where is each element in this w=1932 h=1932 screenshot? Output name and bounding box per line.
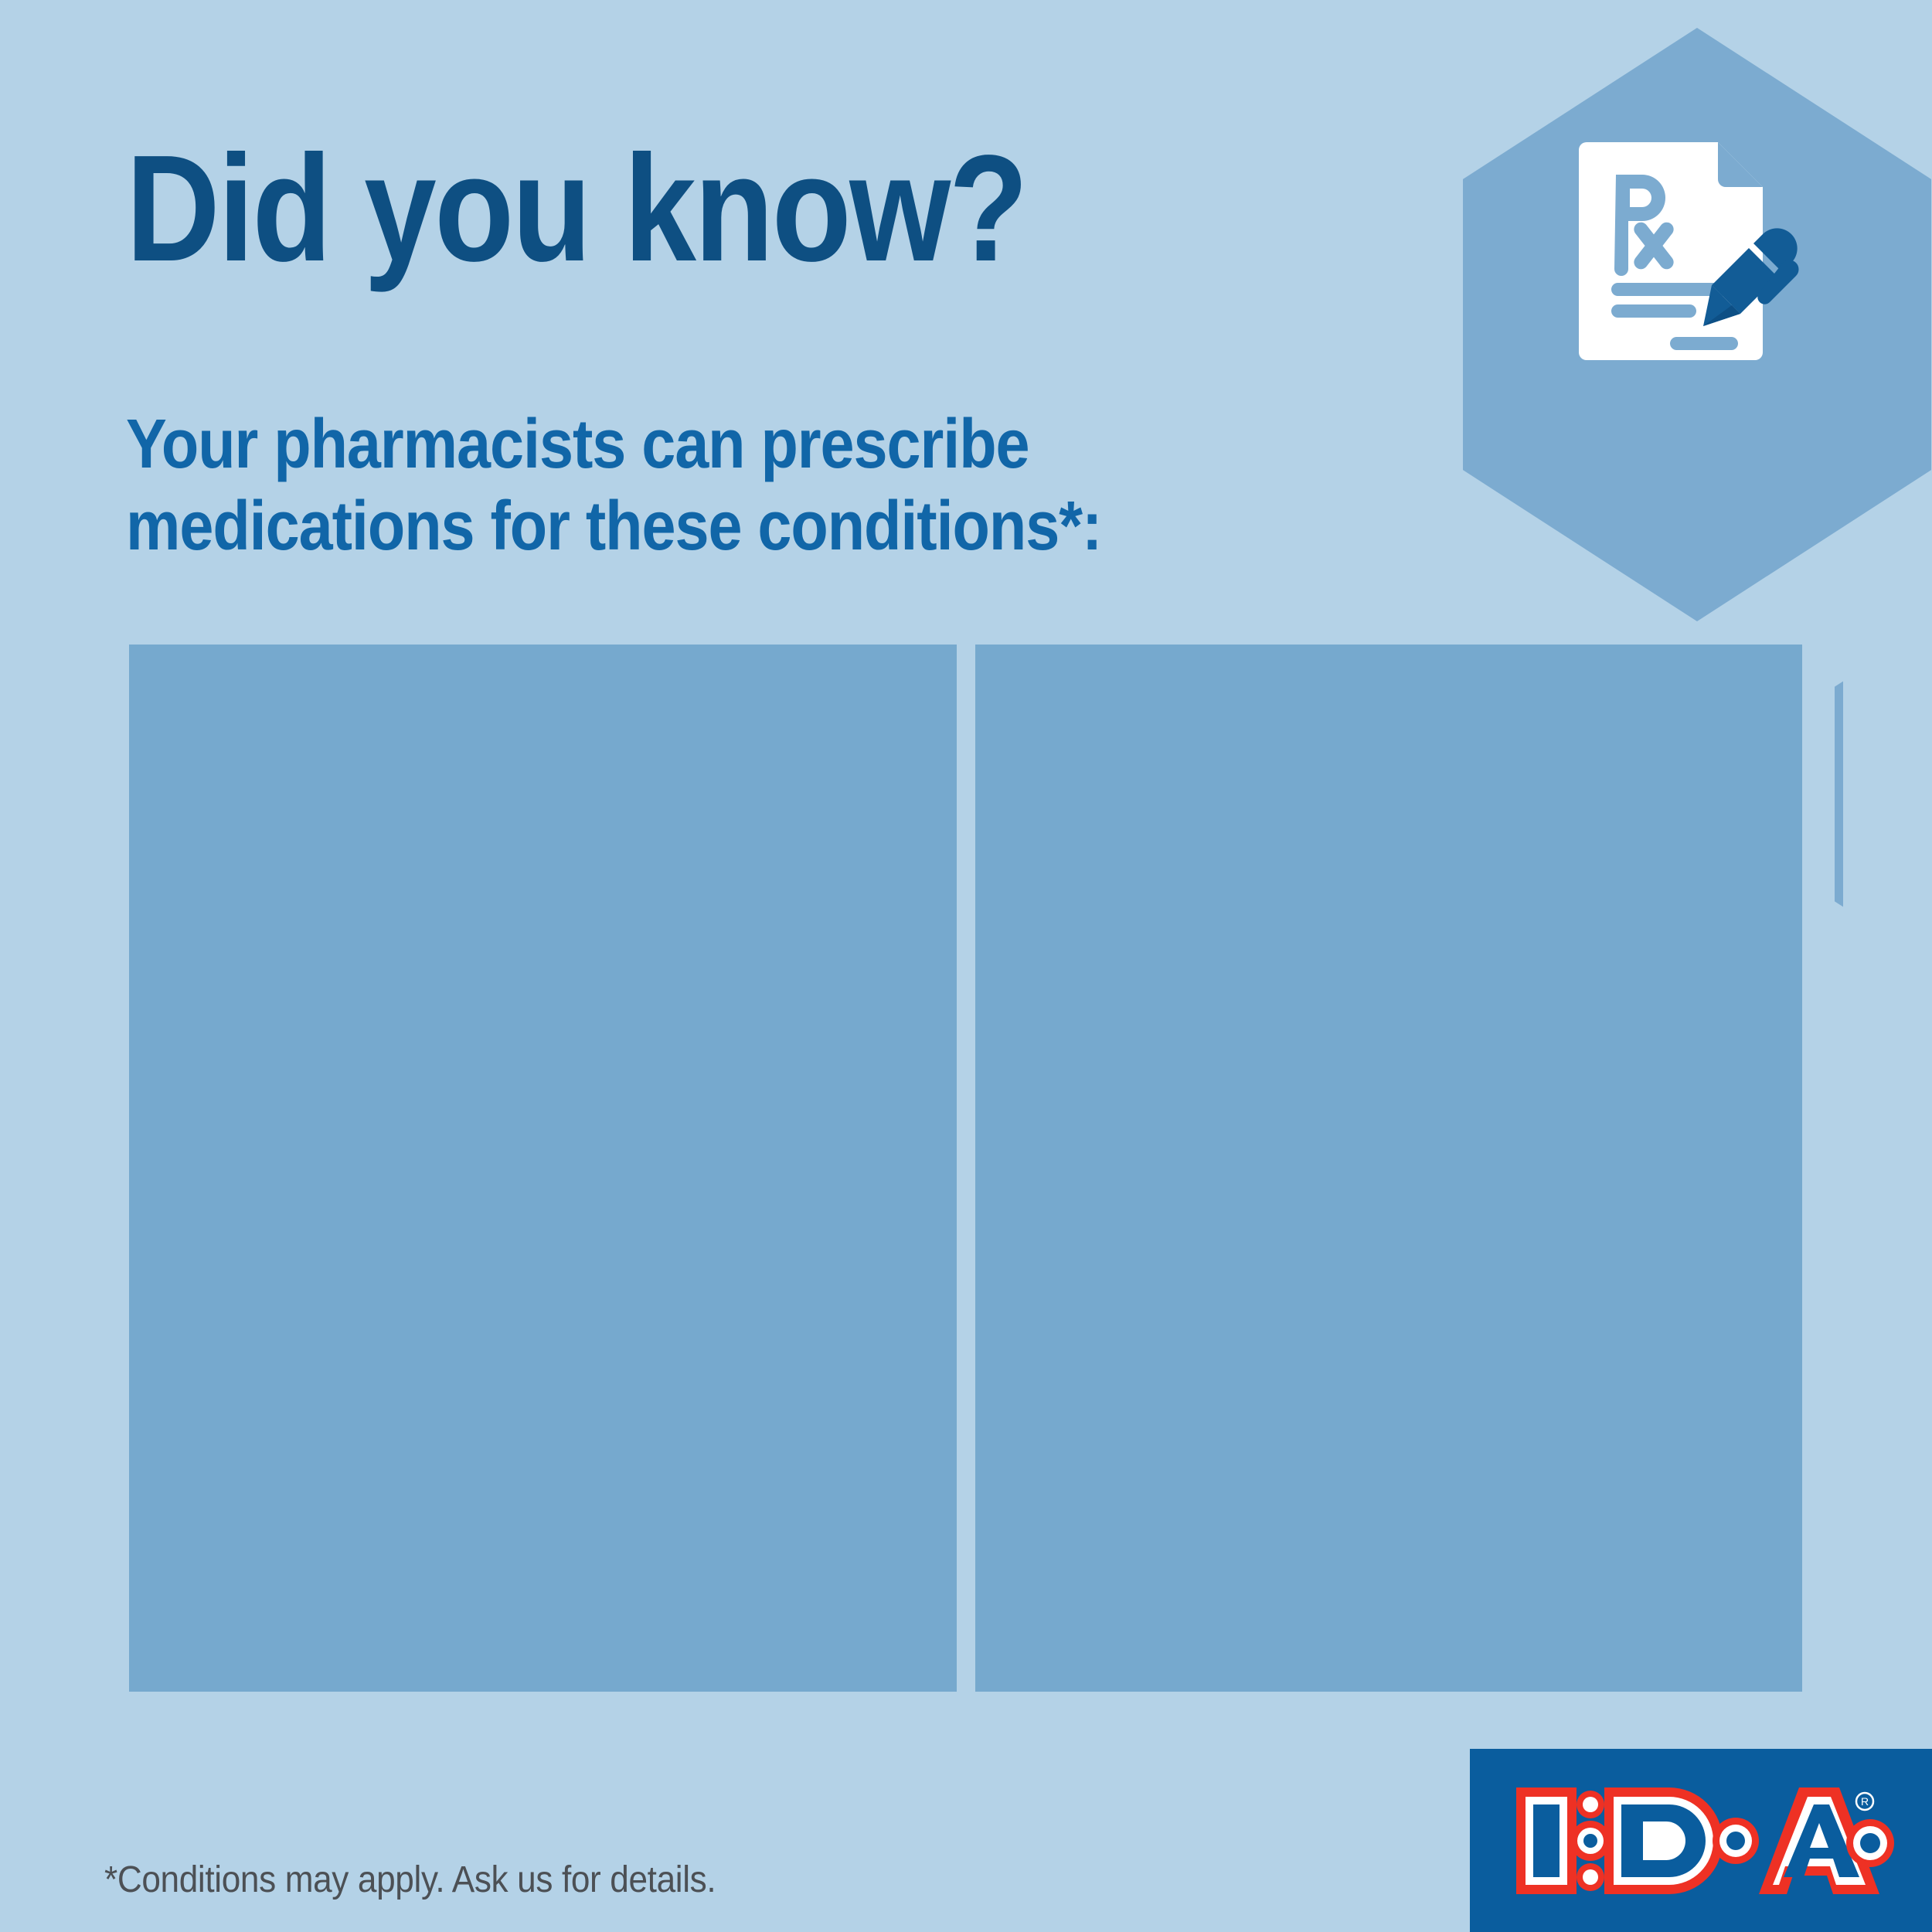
poster-canvas: Did you know? Your pharmacists can presc… xyxy=(0,0,1932,1932)
svg-text:R: R xyxy=(1861,1795,1869,1808)
content-panel-left[interactable] xyxy=(129,645,957,1692)
footnote-disclaimer: *Conditions may apply. Ask us for detail… xyxy=(104,1859,716,1901)
hexagon-outline-shape xyxy=(1835,575,1932,1013)
content-panel-right-body xyxy=(975,645,1802,1692)
content-panel-left-body xyxy=(129,645,957,1692)
page-title: Did you know? xyxy=(126,133,1026,284)
content-panels xyxy=(129,645,1802,1692)
page-subtitle: Your pharmacists can prescribe medicatio… xyxy=(126,403,1101,567)
ida-logo-icon: R xyxy=(1513,1783,1898,1899)
rx-prescription-document-icon xyxy=(1573,131,1828,379)
brand-logo-block: R xyxy=(1470,1749,1932,1932)
content-panel-right[interactable] xyxy=(975,645,1802,1692)
registered-trademark-icon: R xyxy=(1856,1793,1873,1810)
